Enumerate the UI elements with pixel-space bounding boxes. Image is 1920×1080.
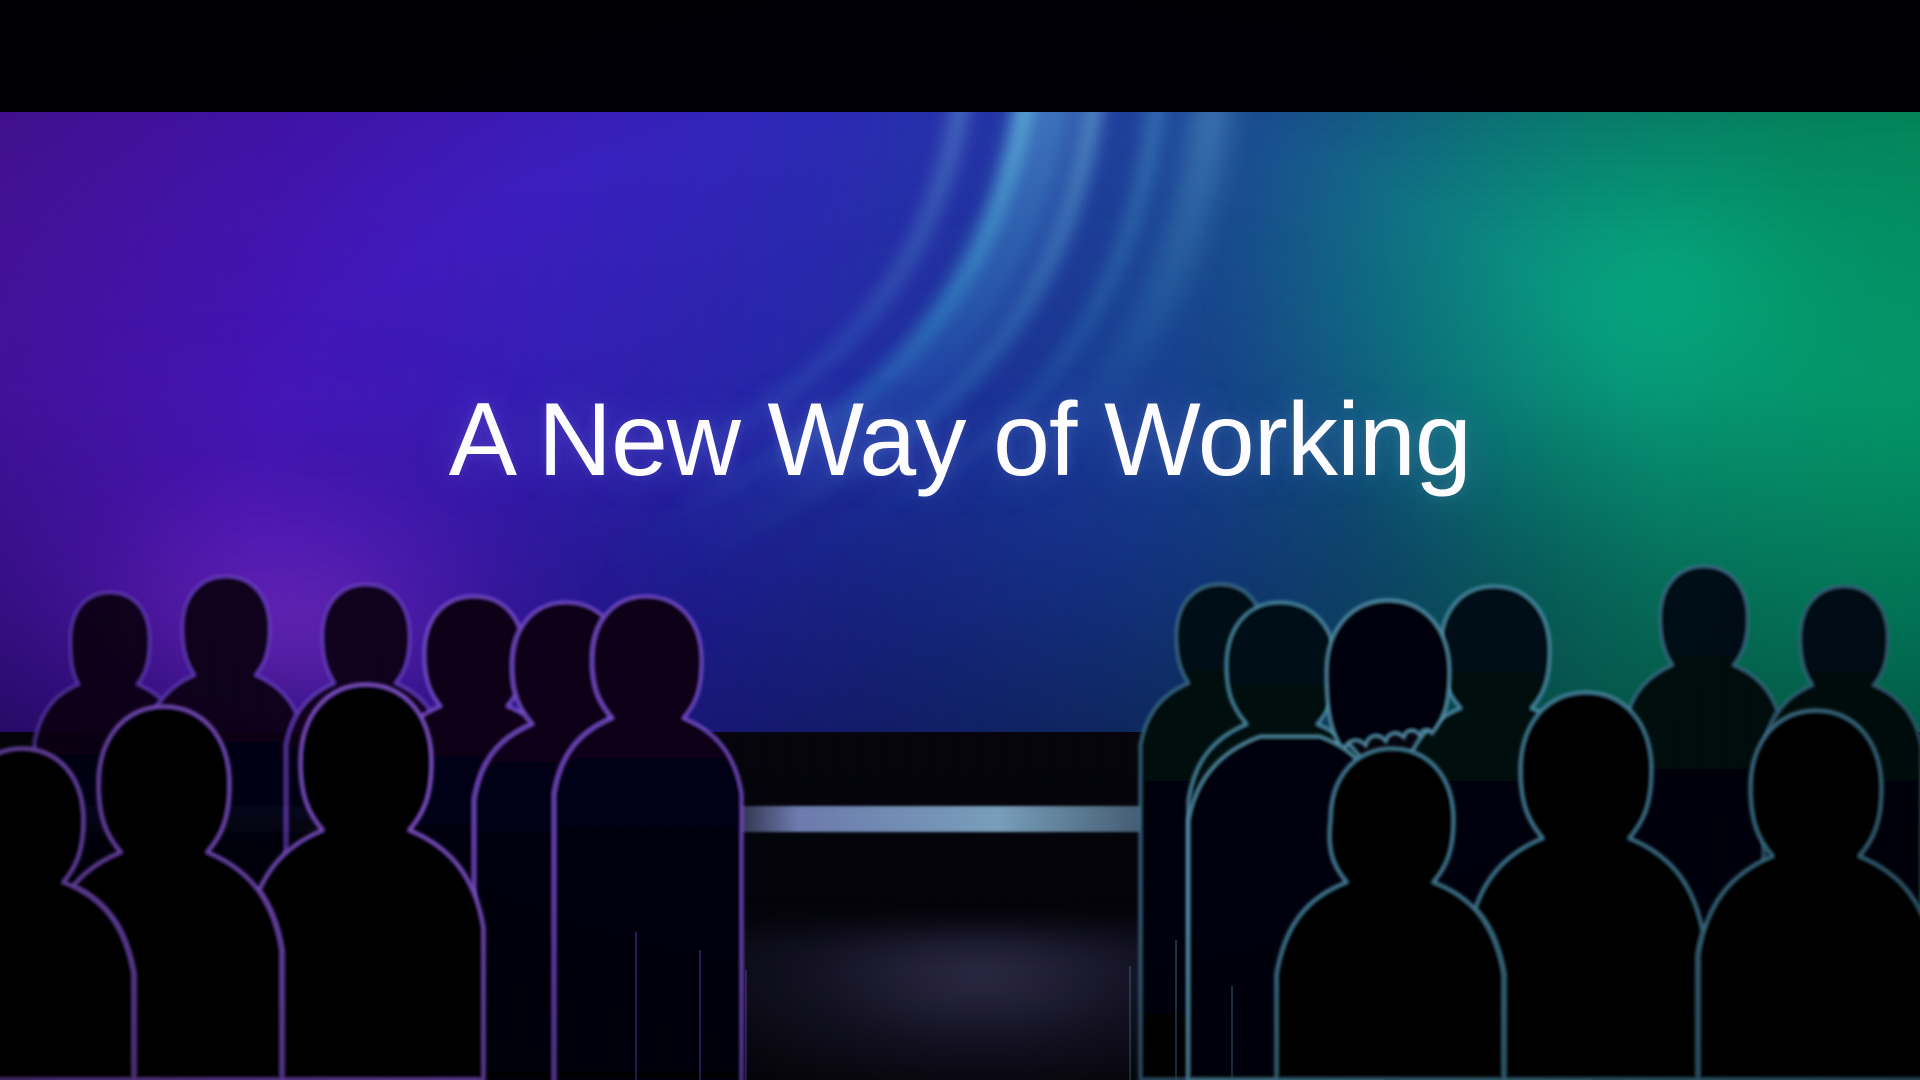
audience-left-group	[0, 576, 746, 1080]
letterbox-top-bar	[0, 0, 1920, 112]
audience-right-group	[1130, 566, 1920, 1080]
screenshot-root: A New Way of Working	[0, 0, 1920, 1080]
audience-silhouettes	[0, 520, 1920, 1080]
